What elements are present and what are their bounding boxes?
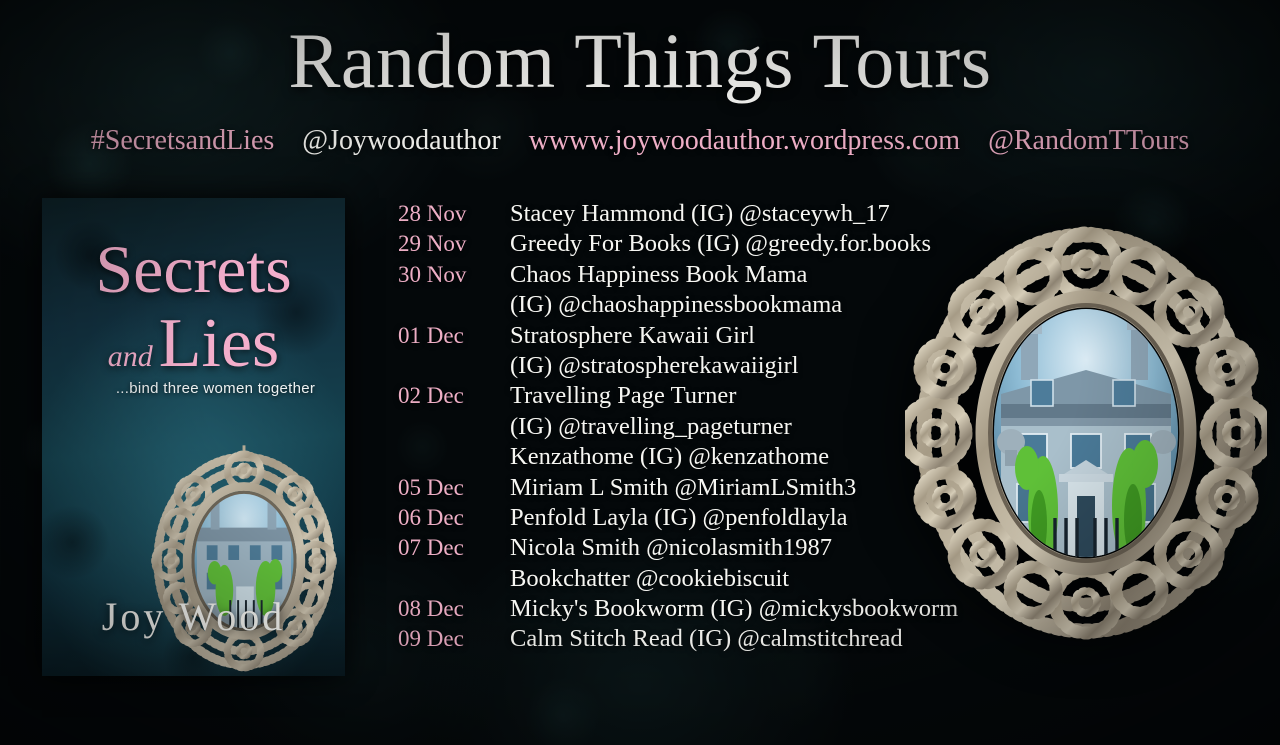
- schedule-blogger: Chaos Happiness Book Mama: [510, 261, 807, 289]
- cover-title-and: and: [108, 340, 153, 373]
- schedule-blogger: (IG) @chaoshappinessbookmama: [510, 291, 842, 319]
- schedule-blogger: Greedy For Books (IG) @greedy.for.books: [510, 230, 931, 258]
- schedule-date: 28 Nov: [398, 201, 510, 227]
- page-title: Random Things Tours: [0, 18, 1280, 104]
- author-website[interactable]: wwww.joywoodauthor.wordpress.com: [529, 125, 960, 156]
- schedule-date: 09 Dec: [398, 626, 510, 652]
- locket-icon: [905, 218, 1267, 648]
- social-links-line: #SecretsandLies @Joywoodauthor wwww.joyw…: [0, 124, 1280, 158]
- schedule-date: 05 Dec: [398, 475, 510, 501]
- schedule-blogger: Bookchatter @cookiebiscuit: [510, 565, 789, 593]
- book-cover: Secrets andLies ...bind three women toge…: [42, 198, 345, 676]
- schedule-blogger: Travelling Page Turner: [510, 382, 736, 410]
- schedule-blogger: Miriam L Smith @MiriamLSmith3: [510, 474, 856, 502]
- tour-banner: Random Things Tours #SecretsandLies @Joy…: [0, 0, 1280, 745]
- schedule-date: 07 Dec: [398, 535, 510, 561]
- schedule-blogger: Stratosphere Kawaii Girl: [510, 322, 755, 350]
- schedule-blogger: Kenzathome (IG) @kenzathome: [510, 443, 829, 471]
- schedule-blogger: Stacey Hammond (IG) @staceywh_17: [510, 200, 890, 228]
- schedule-date: 08 Dec: [398, 596, 510, 622]
- schedule-date: 30 Nov: [398, 262, 510, 288]
- author-handle[interactable]: @Joywoodauthor: [302, 125, 500, 156]
- schedule-blogger: Micky's Bookworm (IG) @mickysbookworm: [510, 595, 958, 623]
- schedule-blogger: (IG) @travelling_pageturner: [510, 413, 792, 441]
- schedule-blogger: Penfold Layla (IG) @penfoldlayla: [510, 504, 848, 532]
- locket-icon: [146, 443, 342, 675]
- schedule-blogger: Nicola Smith @nicolasmith1987: [510, 534, 832, 562]
- schedule-date: 29 Nov: [398, 231, 510, 257]
- schedule-date: 06 Dec: [398, 505, 510, 531]
- cover-tagline: ...bind three women together: [42, 380, 345, 397]
- tours-handle[interactable]: @RandomTTours: [988, 125, 1189, 156]
- cover-title-secrets: Secrets: [42, 232, 345, 306]
- cover-author-name: Joy Wood: [42, 593, 345, 640]
- schedule-blogger: Calm Stitch Read (IG) @calmstitchread: [510, 625, 903, 653]
- schedule-date: 01 Dec: [398, 323, 510, 349]
- hashtag-link[interactable]: #SecretsandLies: [91, 125, 275, 156]
- cover-title-lies: Lies: [159, 305, 280, 382]
- schedule-blogger: (IG) @stratospherekawaiigirl: [510, 352, 799, 380]
- cover-title-and-lies: andLies: [42, 304, 345, 384]
- schedule-date: 02 Dec: [398, 383, 510, 409]
